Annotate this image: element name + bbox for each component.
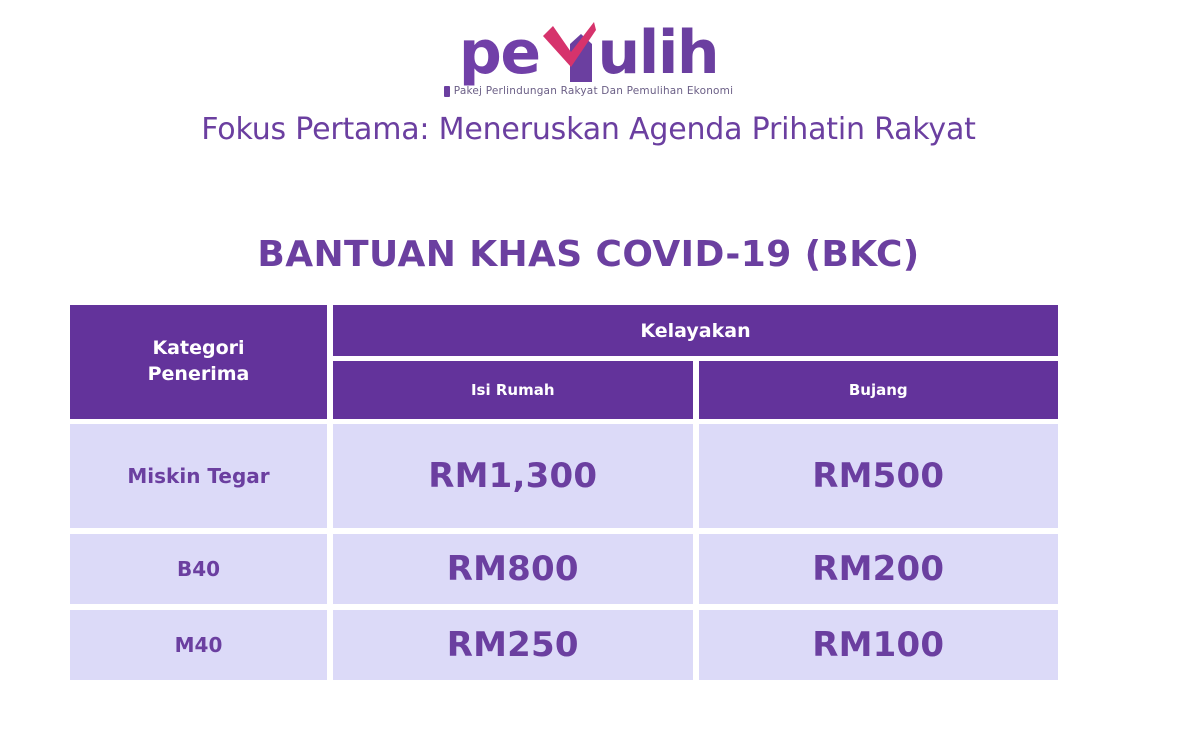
logo-tagline-row: Pakej Perlindungan Rakyat Dan Pemulihan … [0,85,1177,97]
cell-bujang: RM200 [699,534,1059,604]
cell-bujang: RM100 [699,610,1059,680]
page-title: BANTUAN KHAS COVID-19 (BKC) [0,234,1177,275]
header-cell-bujang: Bujang [699,361,1059,419]
logo-text-suffix: ulih [598,18,719,88]
logo-text-prefix: pe [459,18,540,88]
cell-isi-rumah: RM1,300 [333,424,693,528]
table-body: Miskin Tegar RM1,300 RM500 B40 RM800 RM2… [70,424,1058,680]
table-row: B40 RM800 RM200 [70,534,1058,604]
tagline-tick-icon [444,86,450,97]
logo-checkmark-m-icon [540,22,598,84]
header-right-group: Kelayakan Isi Rumah Bujang [333,305,1058,419]
header-subcolumn-row: Isi Rumah Bujang [333,361,1058,419]
header-cell-kelayakan: Kelayakan [333,305,1058,356]
cell-isi-rumah: RM800 [333,534,693,604]
focus-subtitle: Fokus Pertama: Meneruskan Agenda Prihati… [0,112,1177,147]
header-category-line1: Kategori [152,337,244,359]
cell-category: Miskin Tegar [70,424,327,528]
cell-category: B40 [70,534,327,604]
pemulih-logo: pe ulih Pakej Perlindungan Rakyat Dan Pe… [0,22,1177,97]
table-header: Kategori Penerima Kelayakan Isi Rumah Bu… [70,305,1058,419]
cell-isi-rumah: RM250 [333,610,693,680]
table-row: Miskin Tegar RM1,300 RM500 [70,424,1058,528]
header-category-line2: Penerima [148,363,250,385]
header-cell-category: Kategori Penerima [70,305,327,419]
cell-bujang: RM500 [699,424,1059,528]
bkc-eligibility-table: Kategori Penerima Kelayakan Isi Rumah Bu… [70,305,1058,680]
logo-tagline-text: Pakej Perlindungan Rakyat Dan Pemulihan … [454,85,733,97]
cell-category: M40 [70,610,327,680]
poster-root: pe ulih Pakej Perlindungan Rakyat Dan Pe… [0,0,1177,740]
header-cell-isi-rumah: Isi Rumah [333,361,693,419]
logo-wordmark: pe ulih [459,22,718,84]
table-row: M40 RM250 RM100 [70,610,1058,680]
